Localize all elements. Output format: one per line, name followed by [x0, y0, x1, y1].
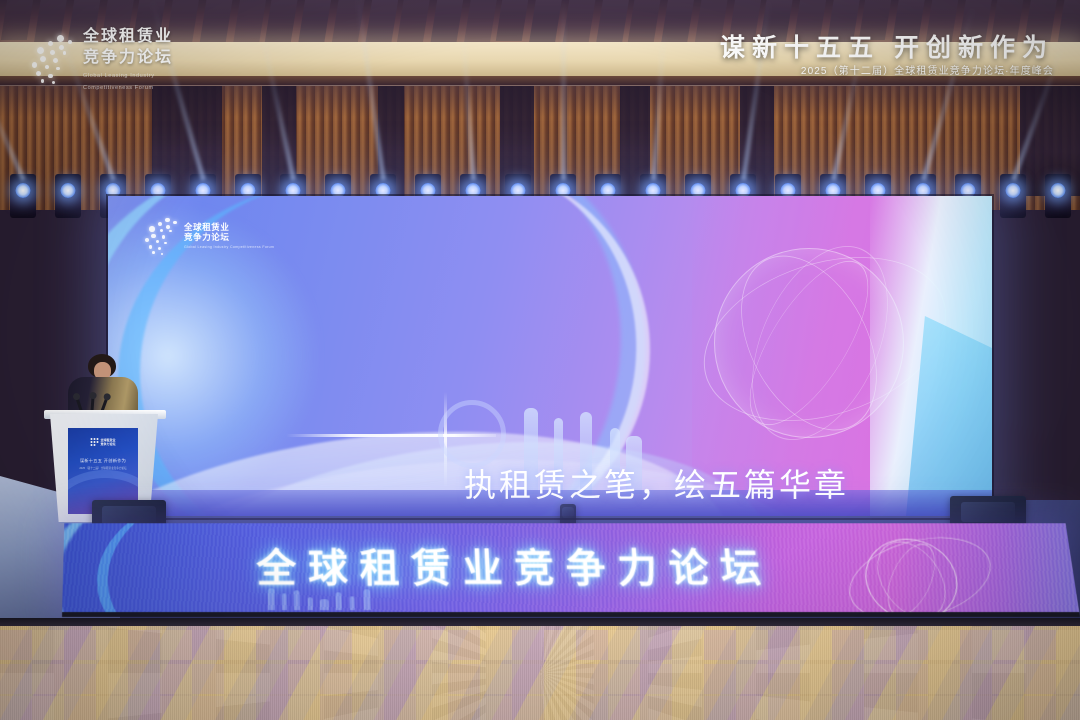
logo-dot	[36, 71, 41, 76]
logo-dot	[50, 50, 55, 55]
overlay-subtitle: 2025（第十二届）全球租赁业竞争力论坛·年度峰会	[801, 62, 1054, 77]
screen-logo-line2: 竞争力论坛	[184, 233, 274, 243]
logo-dot	[68, 40, 73, 45]
logo-dot	[158, 222, 162, 226]
ferris-wheel-icon	[438, 400, 506, 468]
logo-dot	[52, 81, 55, 84]
logo-dot	[151, 234, 155, 238]
logo-dot	[53, 58, 58, 63]
logo-dot	[166, 225, 170, 229]
lectern-logo: 全球租赁业 竞争力论坛	[90, 438, 115, 448]
logo-dot	[145, 238, 149, 242]
logo-dot	[152, 251, 155, 254]
led-moire-overlay	[62, 523, 1079, 612]
logo-dot	[165, 218, 170, 223]
logo-dot	[63, 51, 67, 55]
logo-dot	[149, 226, 154, 231]
logo-dot	[48, 41, 54, 47]
logo-dot	[40, 56, 46, 62]
logo-dot	[41, 79, 45, 83]
logo-dot	[164, 242, 167, 245]
lectern-slogan: 谋新十五五 开创新作为	[80, 458, 126, 464]
logo-dot	[45, 65, 50, 70]
stage-light-lens-icon	[60, 183, 75, 198]
logo-dot	[59, 45, 64, 50]
logo-dot	[149, 245, 153, 249]
logo-dot	[90, 438, 92, 440]
stage-light-lens-icon	[1050, 183, 1065, 198]
screen-forum-logo: 全球租赁业 竞争力论坛 Global Leasing Industry Comp…	[144, 216, 274, 256]
logo-dot	[169, 230, 172, 233]
logo-dot	[93, 441, 95, 443]
logo-dot	[161, 253, 163, 255]
conference-stage-photo: 全球租赁业 竞争力论坛 Global Leasing Industry Comp…	[0, 0, 1080, 720]
stage-light-fixture	[55, 174, 81, 218]
stage-light-lens-icon	[15, 183, 30, 198]
stage-light-fixture	[1045, 174, 1071, 218]
overlay-logo-english-line2: Competitiveness Forum	[83, 84, 173, 92]
logo-dot	[48, 74, 52, 78]
overlay-forum-logo: 全球租赁业 竞争力论坛 Global Leasing Industry Comp…	[30, 26, 173, 93]
logo-dot	[158, 247, 161, 250]
logo-dot	[93, 438, 95, 440]
floor-carpet	[0, 626, 1080, 720]
overlay-slogan: 谋新十五五 开创新作为	[720, 28, 1054, 64]
lectern-logo-line2: 竞争力论坛	[100, 443, 115, 447]
logo-dot	[96, 438, 98, 440]
main-led-screen: 全球租赁业 竞争力论坛 Global Leasing Industry Comp…	[108, 196, 992, 516]
logo-dot	[173, 221, 176, 224]
stage-light-beam	[561, 0, 566, 180]
logo-dot	[57, 35, 64, 42]
logo-dot	[56, 67, 60, 71]
overlay-logo-line1: 全球租赁业	[83, 26, 173, 47]
bottom-led-banner: 全球租赁业竞争力论坛	[62, 523, 1080, 617]
logo-dot	[162, 235, 166, 239]
stage-light-fixture	[1000, 174, 1026, 218]
overlay-logo-english-line1: Global Leasing Industry	[83, 72, 173, 80]
carpet-chevron-pattern	[0, 626, 1080, 720]
stage-light-lens-icon	[1005, 183, 1020, 198]
lectern-subtitle: 2025（第十二届）全球租赁业竞争力论坛	[79, 466, 126, 470]
overlay-logo-dots-icon	[30, 33, 74, 85]
logo-dot	[160, 229, 164, 233]
lectern-logo-dots-icon	[90, 438, 98, 448]
screen-logo-dots-icon	[144, 216, 178, 256]
screen-title-line1: 执租赁之笔，绘五篇华章	[464, 460, 849, 506]
logo-dot	[96, 441, 98, 443]
stage-light-fixture	[10, 174, 36, 218]
logo-dot	[90, 444, 92, 446]
logo-dot	[93, 444, 95, 446]
screen-logo-english: Global Leasing Industry Competitiveness …	[184, 245, 274, 249]
logo-dot	[90, 441, 92, 443]
logo-dot	[37, 47, 44, 54]
logo-dot	[32, 62, 37, 67]
logo-dot	[156, 240, 159, 243]
overlay-logo-line2: 竞争力论坛	[83, 47, 173, 68]
